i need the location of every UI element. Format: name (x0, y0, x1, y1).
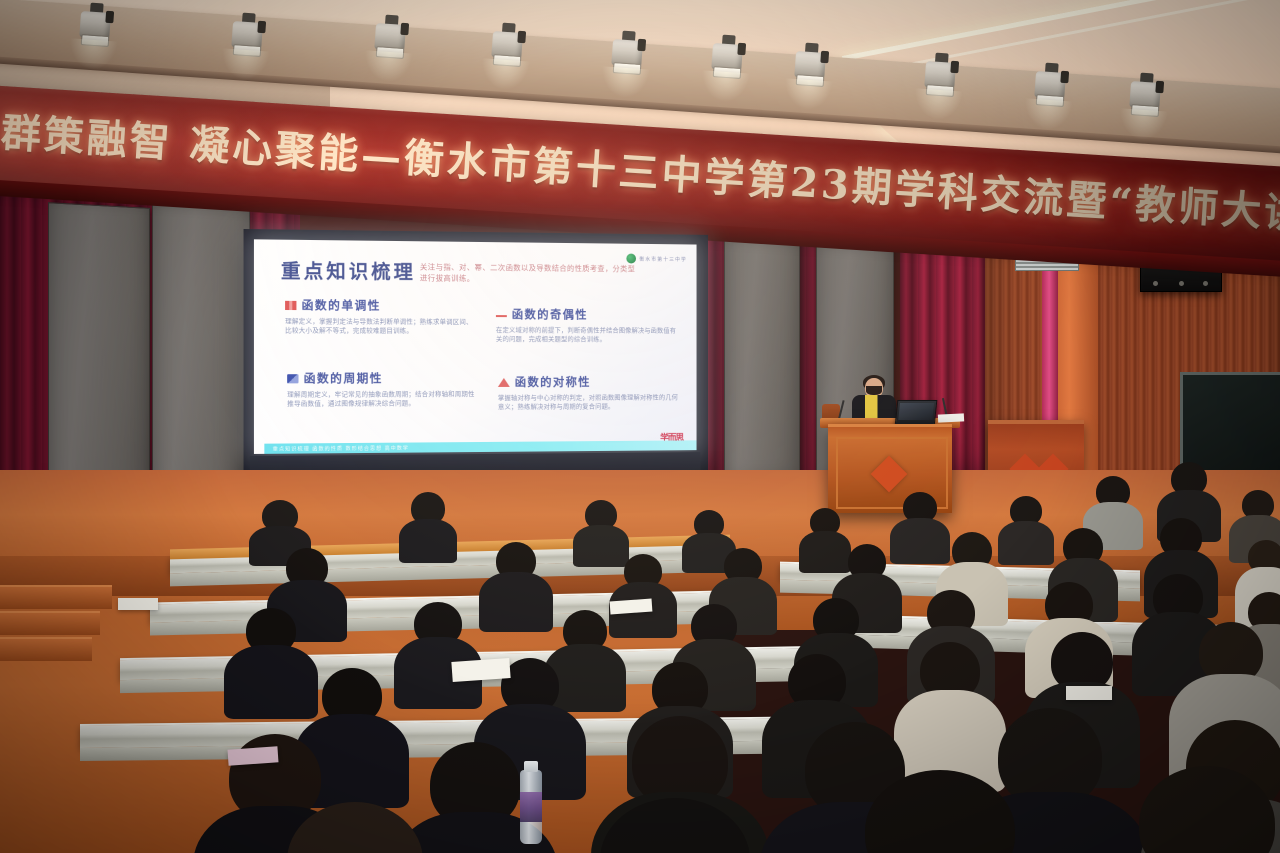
seated-attendee (400, 492, 456, 558)
slide-section-monotonicity: 函数的单调性 理解定义，掌握判定法与导数法判断单调性；熟练求单调区间、比较大小及… (285, 297, 474, 337)
triangle-bullet-icon (498, 377, 510, 386)
square-bullet-icon (287, 374, 298, 383)
presenter-laptop (895, 400, 938, 426)
slide-subtitle: 关注与指、对、幂、二次函数以及导数结合的性质考查，分类型进行拔高训练。 (420, 261, 637, 285)
stage-spotlight-icon (711, 39, 744, 79)
stage-spotlight-icon (1129, 77, 1162, 117)
slide-section-body: 在定义域对称的前提下，判断奇偶性并结合图像解决与函数值有关的问题，完成相关题型的… (496, 326, 677, 345)
open-notebook (1066, 686, 1112, 700)
stage-spotlight-icon (924, 57, 957, 97)
open-notebook (118, 598, 158, 610)
seated-attendee (482, 542, 550, 626)
seated-attendee (398, 602, 478, 700)
stage-spotlight-icon (794, 47, 827, 87)
stage-spotlight-icon (374, 19, 407, 59)
slide-section-symmetry: 函数的对称性 掌握轴对称与中心对称的判定，对照函数图像理解对称性的几何意义；熟练… (498, 374, 679, 413)
seated-attendee (560, 798, 790, 853)
slide-section-heading: 函数的对称性 (515, 374, 591, 390)
slide-title: 重点知识梳理 (281, 256, 416, 285)
slide-section-heading: 函数的周期性 (304, 370, 383, 386)
swatch-bullet-icon (285, 300, 296, 309)
slide-logo-text: 衡水市第十三中学 (639, 255, 687, 262)
seated-attendee (810, 770, 1070, 853)
dash-bullet-icon (496, 310, 507, 319)
stage-spotlight-icon (1034, 67, 1067, 107)
water-bottle (520, 770, 542, 844)
slide-section-heading: 函数的奇偶性 (512, 306, 588, 322)
acoustic-panel (152, 203, 250, 512)
slide-logo: 衡水市第十三中学 (627, 254, 687, 264)
open-notebook (451, 658, 510, 682)
lecture-hall-photo: 群策融智 凝心聚能—衡水市第十三中学第23期学科交流暨“教师大讲堂” 重点知识梳… (0, 0, 1280, 853)
stage-spotlight-icon (79, 7, 112, 47)
seated-attendee (1092, 766, 1280, 853)
slide-section-body: 理解周期定义，牢记常见的抽象函数周期；结合对称轴和周期性推导函数值，通过图像规律… (287, 390, 476, 410)
acoustic-panel (724, 225, 800, 491)
school-emblem-icon (627, 254, 637, 264)
slide-section-body: 掌握轴对称与中心对称的判定，对照函数图像理解对称性的几何意义；熟练解决对称与周期… (498, 393, 679, 412)
slide-footer-text: 重点知识梳理 函数的性质 数形结合思想 高中数学 (273, 445, 409, 453)
seated-attendee (574, 500, 628, 562)
slide-section-periodicity: 函数的周期性 理解周期定义，牢记常见的抽象函数周期；结合对称轴和周期性推导函数值… (287, 370, 476, 410)
seated-attendee (1000, 496, 1052, 558)
acoustic-panel (48, 202, 150, 510)
projection-screen: 重点知识梳理 关注与指、对、幂、二次函数以及导数结合的性质考查，分类型进行拔高训… (244, 229, 708, 497)
slide-section-heading: 函数的单调性 (302, 297, 381, 314)
seated-attendee (255, 802, 455, 853)
slide-section-parity: 函数的奇偶性 在定义域对称的前提下，判断奇偶性并结合图像解决与函数值有关的问题，… (496, 306, 677, 345)
podium-papers (938, 413, 964, 422)
slide-section-body: 理解定义，掌握判定法与导数法判断单调性；熟练求单调区间、比较大小及解不等式，完成… (285, 317, 474, 337)
audience-area (0, 470, 1280, 853)
stage-spotlight-icon (491, 27, 524, 67)
projected-slide: 重点知识梳理 关注与指、对、幂、二次函数以及导数结合的性质考查，分类型进行拔高训… (254, 239, 697, 454)
stage-spotlight-icon (611, 35, 644, 75)
stage-spotlight-icon (231, 17, 264, 57)
